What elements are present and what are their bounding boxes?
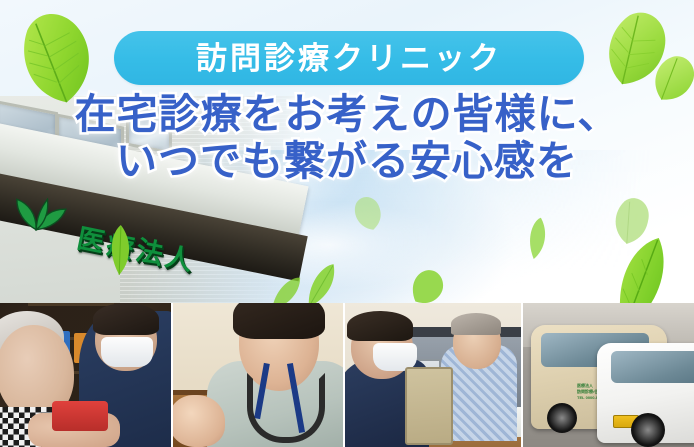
car-wheel (547, 403, 577, 433)
bed-panel (405, 367, 453, 445)
photo-doctor-portrait (173, 303, 343, 447)
doctor-hair (233, 303, 325, 339)
blood-pressure-cuff (52, 401, 108, 431)
car-wheel (631, 413, 665, 447)
patient-hair (451, 313, 501, 335)
doctor-hair (93, 303, 159, 335)
clinic-car-white: 医療法人 在宅診療訪問診療・往診対応TEL 0000-00-0000 (597, 343, 694, 443)
photo-bedside-consultation (345, 303, 521, 447)
hero-section: 医療法人 (0, 0, 694, 303)
stethoscope-icon (247, 373, 325, 443)
car-window (611, 351, 694, 383)
photo-strip: 医療法人 在宅診療訪問診療・往診対応TEL 0000-00-0000 医療法人 … (0, 303, 694, 447)
clinic-type-badge-label: 訪問診療クリニック (196, 43, 502, 74)
patient-hand (173, 395, 225, 447)
clinic-banner: 医療法人 (0, 0, 694, 447)
doctor-hair (347, 311, 413, 341)
face-mask (101, 337, 153, 367)
clinic-type-badge: 訪問診療クリニック (114, 31, 584, 85)
photo-clinic-vehicles: 医療法人 在宅診療訪問診療・往診対応TEL 0000-00-0000 医療法人 … (523, 303, 694, 447)
building-window (126, 96, 172, 154)
photo-home-visit-blood-pressure (0, 303, 171, 447)
